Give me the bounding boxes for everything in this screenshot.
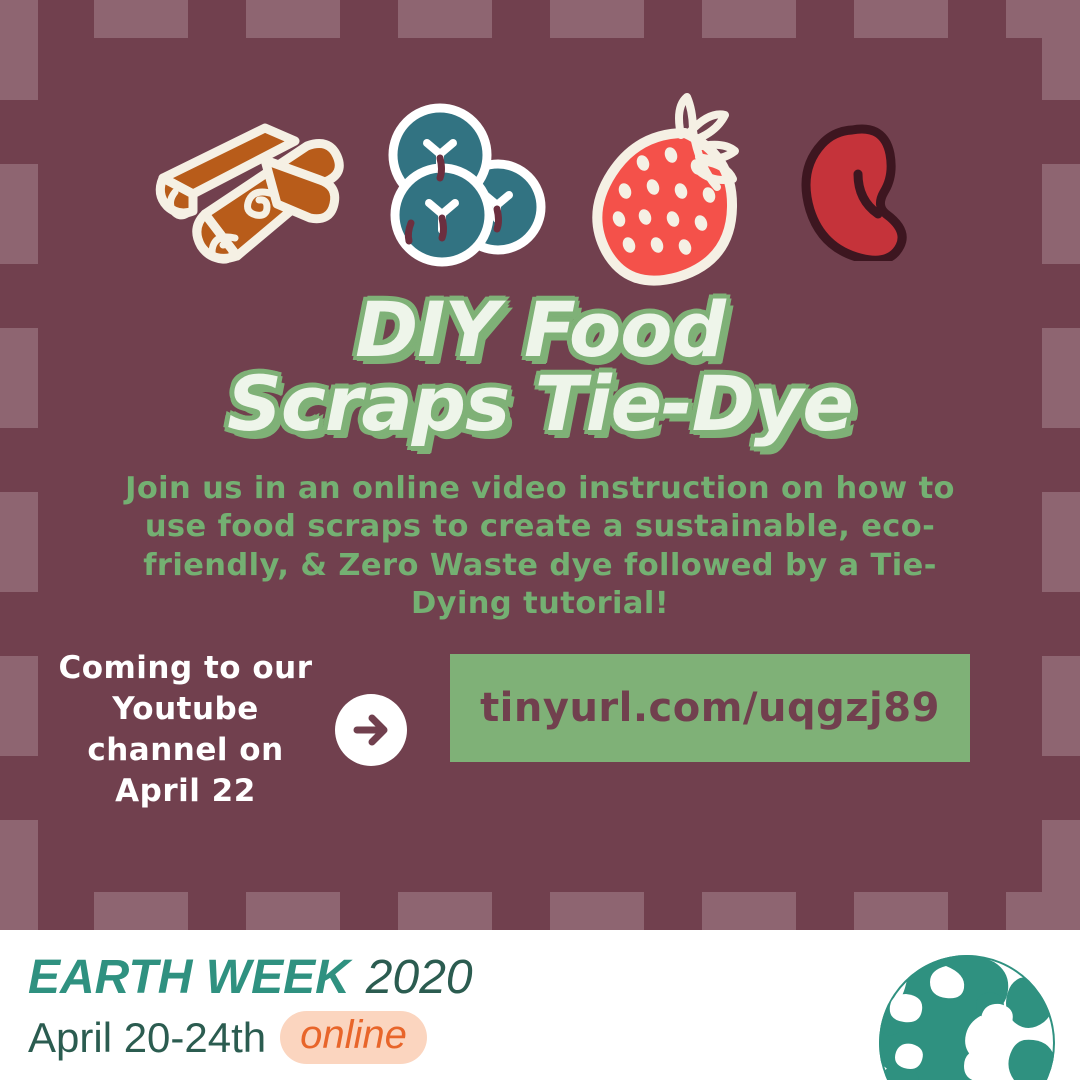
kidney-bean-icon <box>800 116 935 261</box>
online-badge-label: online <box>300 1013 407 1057</box>
blueberries-icon <box>385 103 555 273</box>
arrow-right-icon <box>349 708 393 752</box>
cta-section: Coming to our Youtube channel on April 2… <box>38 648 1042 838</box>
border-dashes-right <box>1042 0 1080 930</box>
event-name: EARTH WEEK <box>28 950 350 1005</box>
footer-title-line: EARTH WEEK 2020 <box>28 950 473 1005</box>
border-dashes-top <box>0 0 1080 38</box>
title-line-2: Scraps Tie-Dye <box>38 367 1042 441</box>
event-dates: April 20-24th <box>28 1014 266 1062</box>
poster: DIY Food Scraps Tie-Dye Join us in an on… <box>0 0 1080 1080</box>
footer-text-block: EARTH WEEK 2020 April 20-24th online <box>28 950 473 1064</box>
online-badge: online <box>280 1011 427 1064</box>
fruit-icon-row <box>38 83 1042 293</box>
footer-date-line: April 20-24th online <box>28 1011 473 1064</box>
strawberry-icon <box>585 91 770 286</box>
page-title: DIY Food Scraps Tie-Dye <box>38 293 1042 442</box>
globe-icon <box>872 948 1062 1080</box>
cinnamon-sticks-icon <box>145 96 355 281</box>
border-dashes-left <box>0 0 38 930</box>
description-text: Join us in an online video instruction o… <box>100 470 980 624</box>
panel-content: DIY Food Scraps Tie-Dye Join us in an on… <box>38 38 1042 892</box>
url-button[interactable]: tinyurl.com/uqgzj89 <box>450 654 970 762</box>
event-year: 2020 <box>366 950 473 1005</box>
cta-label: Coming to our Youtube channel on April 2… <box>58 648 313 812</box>
border-dashes-bottom <box>0 892 1080 930</box>
url-text: tinyurl.com/uqgzj89 <box>480 685 940 731</box>
footer-bar: EARTH WEEK 2020 April 20-24th online <box>0 930 1080 1080</box>
maroon-panel: DIY Food Scraps Tie-Dye Join us in an on… <box>0 0 1080 930</box>
arrow-right-button[interactable] <box>335 694 407 766</box>
